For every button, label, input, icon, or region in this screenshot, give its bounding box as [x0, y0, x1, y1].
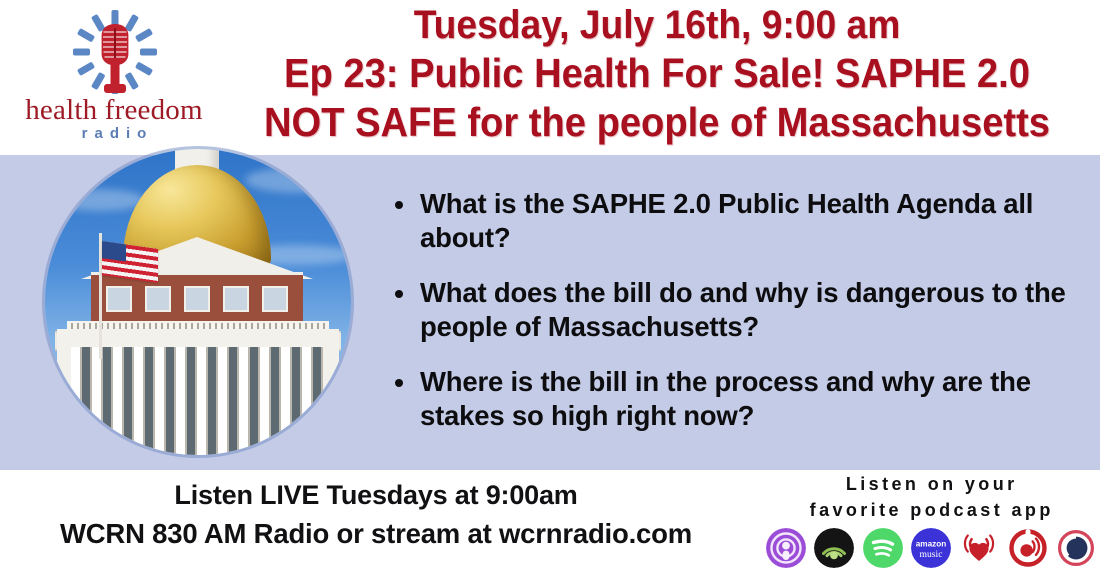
poster-footer: Listen LIVE Tuesdays at 9:00am WCRN 830 … [0, 470, 1100, 576]
state-house-illustration [45, 149, 351, 455]
overcast-icon[interactable] [814, 528, 854, 568]
spotify-icon[interactable] [863, 528, 903, 568]
brand-name: health freedom [8, 96, 220, 125]
podcast-app-icon-row: amazon music [766, 528, 1096, 568]
podcast-cta-line-1: Listen on your [760, 472, 1100, 498]
brand-tagline: radio [8, 126, 220, 141]
content-band: What is the SAPHE 2.0 Public Health Agen… [0, 155, 1100, 470]
headline-tagline: NOT SAFE for the people of Massachusetts [247, 98, 1067, 146]
apple-podcasts-icon[interactable] [766, 528, 806, 568]
svg-text:music: music [920, 549, 943, 560]
station-stream-line[interactable]: WCRN 830 AM Radio or stream at wcrnradio… [0, 514, 752, 553]
podcast-apps-block: Listen on your favorite podcast app [760, 472, 1100, 523]
colonnade-shape [71, 347, 323, 455]
page-title: Tuesday, July 16th, 9:00 am Ep 23: Publi… [247, 2, 1067, 146]
brand-logo[interactable]: health freedom radio [8, 6, 220, 148]
brick-facade-shape [91, 272, 303, 325]
listen-live-line: Listen LIVE Tuesdays at 9:00am [0, 476, 752, 514]
list-item: What is the SAPHE 2.0 Public Health Agen… [386, 187, 1076, 254]
list-item: What does the bill do and why is dangero… [386, 276, 1076, 343]
podcast-cta-line-2: favorite podcast app [760, 498, 1100, 524]
castbox-icon[interactable] [1008, 528, 1048, 568]
state-house-photo [45, 149, 351, 455]
episode-promo-poster: health freedom radio Tuesday, July 16th,… [0, 0, 1100, 576]
pocket-casts-icon[interactable] [1056, 528, 1096, 568]
talking-points-list: What is the SAPHE 2.0 Public Health Agen… [386, 187, 1076, 454]
poster-header: health freedom radio Tuesday, July 16th,… [0, 0, 1100, 155]
podcast-cta: Listen on your favorite podcast app [760, 472, 1100, 523]
amazon-music-icon[interactable]: amazon music [911, 528, 951, 568]
iheartradio-icon[interactable] [959, 528, 999, 568]
radio-microphone-sunburst-icon [60, 8, 170, 96]
cloud-shape [55, 189, 145, 211]
headline-episode: Ep 23: Public Health For Sale! SAPHE 2.0 [247, 49, 1067, 97]
facade-windows [99, 285, 295, 313]
headline-datetime: Tuesday, July 16th, 9:00 am [247, 2, 1067, 49]
broadcast-info: Listen LIVE Tuesdays at 9:00am WCRN 830 … [0, 476, 752, 553]
svg-text:amazon: amazon [916, 539, 946, 548]
cloud-shape [245, 167, 351, 193]
list-item: Where is the bill in the process and why… [386, 365, 1076, 432]
